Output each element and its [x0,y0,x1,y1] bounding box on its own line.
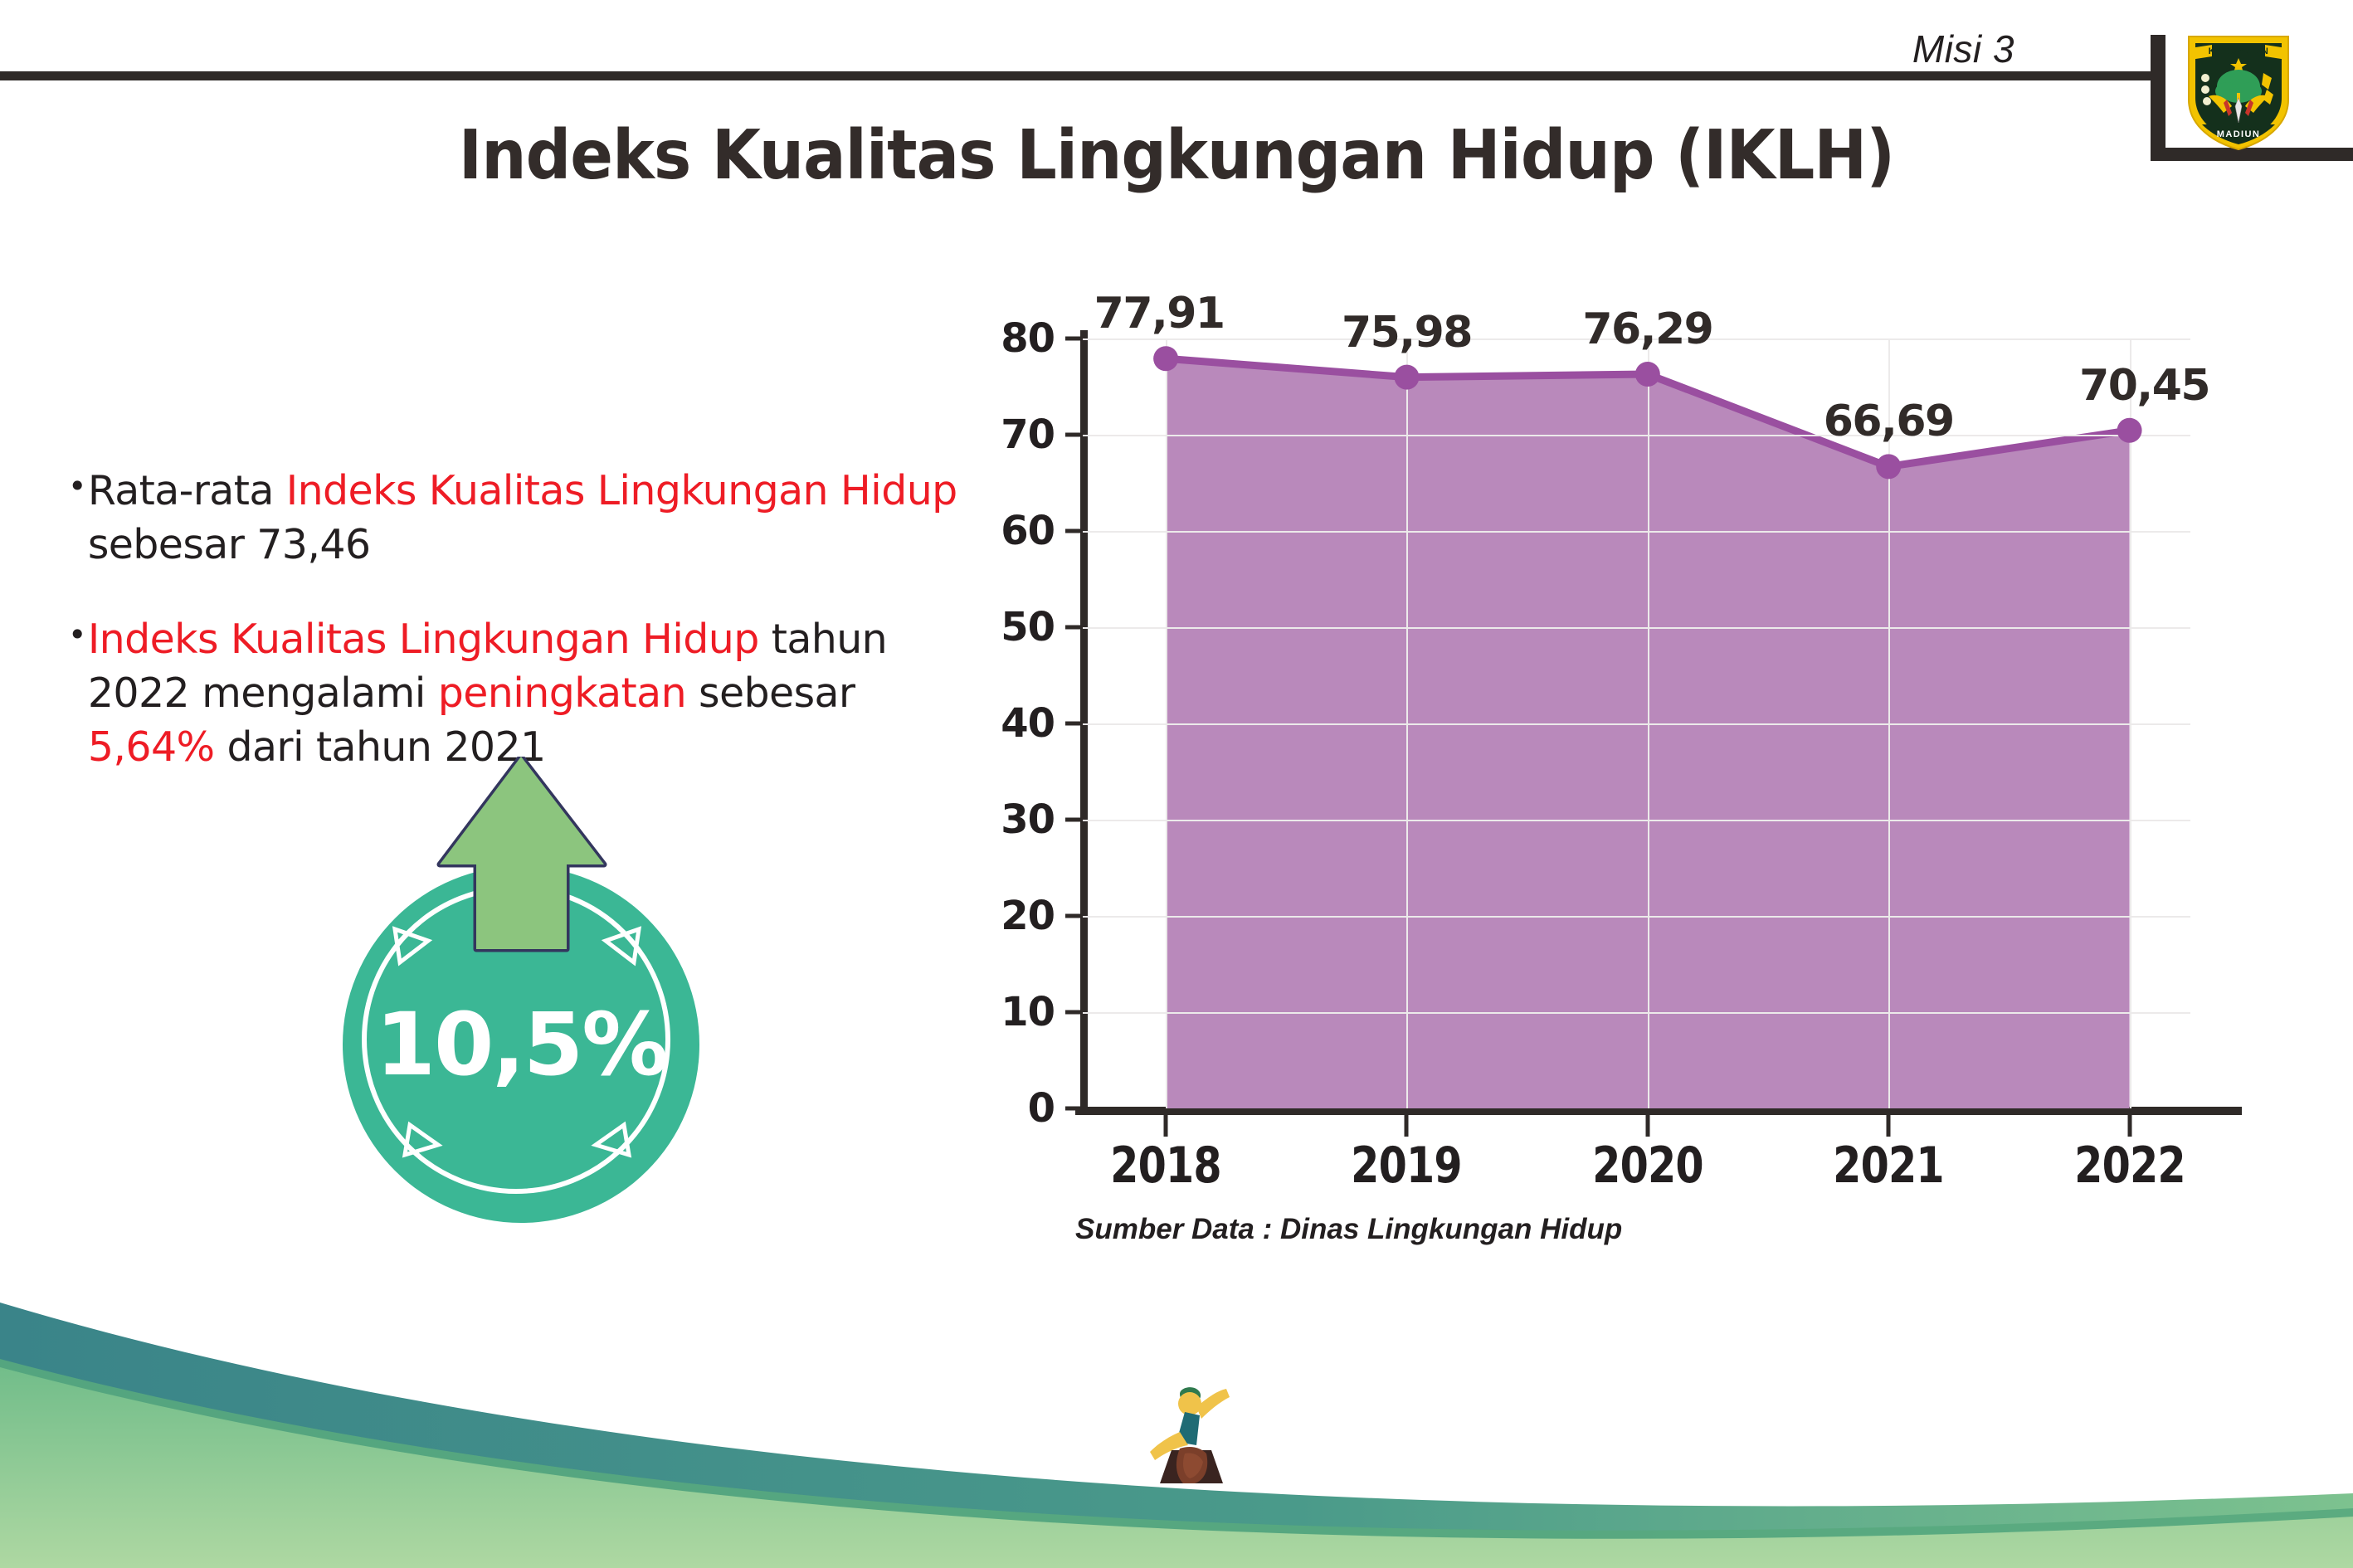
dancer-figure-icon [1147,1382,1233,1488]
highlighted-phrase: 5,64% [88,723,215,771]
y-axis-tick-mark [1065,818,1082,822]
data-point-label: 76,29 [1582,304,1712,354]
y-axis-tick-label: 10 [947,989,1055,1035]
footer-banner: Media Infografis Data Statistik Sektoral… [0,1286,2353,1568]
y-axis-tick-mark [1065,529,1082,533]
chart-plot-area: 77,9175,9876,2966,6970,45 [1083,338,2190,1108]
y-axis-tick-mark [1065,914,1082,918]
y-axis-tick-label: 0 [947,1085,1055,1132]
iklh-area-chart: 77,9175,9876,2966,6970,45 01020304050607… [954,307,2248,1186]
highlighted-phrase: peningkatan [438,670,686,717]
list-item: • Indeks Kualitas Lingkungan Hidup tahun… [68,613,972,774]
data-point-label: 66,69 [1824,397,1954,446]
source-note: Sumber Data : Dinas Lingkungan Hidup [1075,1213,1622,1246]
bullet-text: Indeks Kualitas Lingkungan Hidup tahun 2… [88,613,972,774]
logo-top-text: KABUPATEN [2209,46,2269,56]
data-point-label: 77,91 [1094,289,1225,338]
y-axis-tick-mark [1065,1107,1082,1111]
y-axis-tick-label: 70 [947,411,1055,458]
x-axis-tick-mark [1645,1115,1649,1137]
footer-text: Media Infografis Data Statistik Sektoral… [1228,1419,2237,1463]
data-point-label: 75,98 [1342,308,1472,358]
y-axis-tick-label: 50 [947,604,1055,650]
x-axis-tick-label: 2019 [1318,1137,1495,1195]
x-axis-tick-mark [2127,1115,2131,1137]
plain-phrase: sebesar [686,670,855,717]
data-point-marker [2117,418,2142,443]
plain-phrase: Rata-rata [88,467,286,514]
highlighted-phrase: Indeks Kualitas Lingkungan Hidup [286,467,957,514]
x-axis-tick-label: 2020 [1559,1137,1736,1195]
x-axis-tick-mark [1887,1115,1891,1137]
y-axis-tick-mark [1065,433,1082,437]
y-axis-tick-mark [1065,337,1082,341]
header-rule [0,71,2159,80]
x-axis-tick-label: 2018 [1078,1137,1254,1195]
x-axis-tick-mark [1164,1115,1168,1137]
bullet-marker: • [68,613,86,658]
x-axis-tick-mark [1405,1115,1409,1137]
highlighted-phrase: Indeks Kualitas Lingkungan Hidup [88,616,759,663]
data-point-marker [1394,365,1419,390]
increase-badge: 10,5% [330,757,762,1221]
bullet-text: Rata-rata Indeks Kualitas Lingkungan Hid… [88,465,972,572]
badge-value: 10,5% [343,994,699,1095]
y-axis-tick-mark [1065,1010,1082,1015]
y-axis-tick-mark [1065,722,1082,726]
y-axis-tick-label: 20 [947,893,1055,939]
data-point-marker [1876,454,1901,479]
data-point-markers [1083,338,2190,1108]
data-point-marker [1153,346,1178,371]
infographic-slide: Misi 3 KABUPATEN MADIUN [0,0,2353,1568]
x-axis-tick-label: 2021 [1800,1137,1977,1195]
misi-label: Misi 3 [1912,27,2014,71]
y-axis-tick-label: 60 [947,508,1055,554]
y-axis-tick-label: 80 [947,315,1055,362]
up-arrow-icon [330,757,762,1221]
bullet-marker: • [68,465,86,509]
y-axis-tick-label: 30 [947,796,1055,843]
y-axis-tick-mark [1065,626,1082,630]
page-title: Indeks Kualitas Lingkungan Hidup (IKLH) [82,116,2270,195]
x-axis-tick-label: 2022 [2041,1137,2218,1195]
data-point-label: 70,45 [2079,361,2209,411]
y-axis-tick-label: 40 [947,700,1055,747]
data-point-marker [1635,362,1660,387]
list-item: • Rata-rata Indeks Kualitas Lingkungan H… [68,465,972,572]
plain-phrase: sebesar 73,46 [88,521,371,568]
